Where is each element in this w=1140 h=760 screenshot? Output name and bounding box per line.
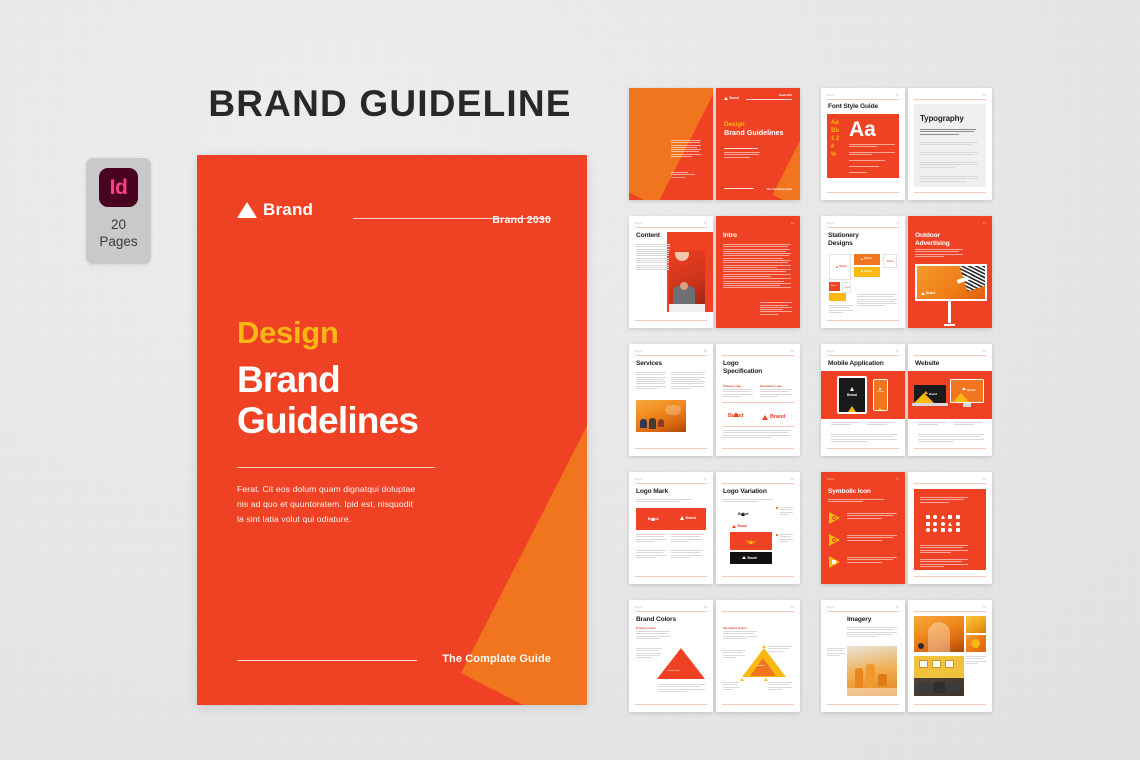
icon-set-grid: [926, 515, 960, 532]
thumb-photo: [966, 616, 986, 633]
star-icon: [941, 515, 945, 519]
thumb-title: Font Style Guide: [828, 103, 878, 111]
thumb-header-right: 14: [983, 222, 986, 225]
thumb-header-left: Brand: [827, 94, 834, 97]
cover-title-block: Design Brand Guidelines Ferat. Cit eos d…: [237, 317, 487, 528]
thumb-sub-right: Secondary Logo: [760, 384, 782, 388]
page-thumbnail-grid: Brand Brand 2030 Design Brand Guidelines…: [629, 88, 1001, 712]
thumb-pair: Brand13 Stationery Designs Brand Brand B…: [821, 216, 992, 328]
thumb-header-right: 19: [896, 606, 899, 609]
cover-kicker: Design: [237, 317, 487, 350]
home-icon: [948, 522, 952, 526]
cover-title-line2: Guidelines: [237, 400, 487, 441]
page-title: BRAND GUIDELINE: [200, 83, 580, 125]
thumb-title: Website: [915, 360, 939, 368]
thumb-header-right: 10: [791, 606, 794, 609]
thumb-title: Intro: [723, 232, 737, 240]
thumb-header-left: Brand: [827, 350, 834, 353]
cover-preview[interactable]: Brand Brand 2030 Design Brand Guidelines…: [197, 155, 587, 705]
page-count-number: 20: [99, 217, 137, 234]
cover-footer: The Complate Guide: [237, 645, 551, 665]
cover-blurb: Ferat. Cit eos dolum quam dignatqui dolu…: [237, 482, 419, 527]
thumb-header-right: 17: [896, 478, 899, 481]
thumb-header-left: Brand: [827, 222, 834, 225]
thumb-photo: [914, 656, 964, 696]
thumb-pair: Brand07 Logo Mark Brand Brand 08: [629, 472, 800, 584]
thumb-pair: Brand19 Imagery 20: [821, 600, 992, 712]
thumb-header-right: 15: [896, 350, 899, 353]
thumb-content[interactable]: Brand03 Content: [629, 216, 713, 328]
thumb-sub: Primary Colors: [636, 626, 656, 630]
thumb-title: Mobile Application: [828, 360, 884, 368]
thumb-mobile-application[interactable]: Brand15 Mobile Application Brand Brand: [821, 344, 905, 456]
thumb-symbolic-icon[interactable]: Brand17 Symbolic Icon: [821, 472, 905, 584]
thumb-title: Services: [636, 360, 662, 368]
bag-icon: [926, 515, 930, 519]
thumb-header-right: 05: [704, 350, 707, 353]
thumb-logo-variation[interactable]: 08 Logo Variation Brand Brand Brand: [716, 472, 800, 584]
thumb-pair: Brand15 Mobile Application Brand Brand: [821, 344, 992, 456]
thumb-stationery-designs[interactable]: Brand13 Stationery Designs Brand Brand B…: [821, 216, 905, 328]
thumb-mark-b: Brand: [770, 414, 786, 420]
thumb-header-right: 13: [896, 222, 899, 225]
thumb-header-right: 16: [983, 350, 986, 353]
thumb-secondary-colors[interactable]: 10 Secondary Colors Secondary: [716, 600, 800, 712]
thumb-header-left: Brand: [827, 606, 834, 609]
thumb-title: Brand Guidelines: [724, 129, 784, 137]
thumb-photo: [636, 400, 686, 432]
thumb-header-left: Brand: [635, 478, 642, 481]
thumb-brand-name: Brand: [730, 96, 739, 100]
cover-brand-name: Brand: [263, 200, 313, 220]
thumb-device-label: Brand: [839, 393, 865, 397]
specimen-big: Aa: [849, 119, 876, 140]
thumb-pair: Brand05 Services 06 Logo Specification P…: [629, 344, 800, 456]
thumb-icon-set[interactable]: 18: [908, 472, 992, 584]
headphones-icon: [926, 528, 930, 532]
thumb-pair: Brand Brand 2030 Design Brand Guidelines…: [629, 88, 800, 200]
thumb-imagery[interactable]: Brand19 Imagery: [821, 600, 905, 712]
thumb-header-right: 04: [791, 222, 794, 225]
thumb-mark-a: Brand: [648, 517, 658, 521]
thumb-title: Brand Colors: [636, 616, 676, 624]
pin-icon: [956, 522, 960, 526]
indesign-pages-badge: Id 20 Pages: [86, 158, 151, 264]
phone-icon: [948, 515, 952, 519]
thumb-title: Typography: [920, 114, 964, 123]
thumb-header-left: Brand: [827, 478, 834, 481]
cover-edition: Brand 2030: [492, 214, 551, 226]
thumb-header-right: 02: [983, 94, 986, 97]
thumb-pair: Brand01 Font Style Guide Aa Bb 1 2 # % A…: [821, 88, 992, 200]
lock-icon: [956, 528, 960, 532]
thumb-imagery-gallery[interactable]: 20: [908, 600, 992, 712]
thumb-photo: [847, 646, 897, 696]
thumb-title: Outdoor Advertising: [915, 232, 965, 248]
thumb-typography[interactable]: 02 Typography: [908, 88, 992, 200]
cover-header-rule: Brand 2030: [353, 218, 551, 219]
thumb-header-right: 09: [704, 606, 707, 609]
cover-footer-cta: The Complate Guide: [442, 653, 551, 665]
thumb-header-right: 01: [896, 94, 899, 97]
specimen-bb: Bb: [831, 127, 839, 135]
thumb-sub-left: Primary Logo: [723, 384, 741, 388]
specimen-aa: Aa: [831, 119, 839, 127]
thumb-website[interactable]: 16 Website Brand Brand: [908, 344, 992, 456]
thumb-title: Logo Variation: [723, 488, 767, 496]
thumb-mark-a: Brand: [728, 413, 744, 419]
thumb-title: Imagery: [847, 616, 871, 624]
thumb-brand-colors[interactable]: Brand09 Brand Colors Primary Colors Prim…: [629, 600, 713, 712]
thumb-header-right: 06: [791, 350, 794, 353]
thumb-mark-3: Brand: [730, 540, 772, 544]
question-icon: [933, 515, 937, 519]
cover-footer-rule: [237, 660, 417, 661]
thumb-pair: Brand17 Symbolic Icon 18: [821, 472, 992, 584]
thumb-font-style-guide[interactable]: Brand01 Font Style Guide Aa Bb 1 2 # % A…: [821, 88, 905, 200]
thumb-cover-back[interactable]: [629, 88, 713, 200]
thumb-header-left: Brand: [635, 222, 642, 225]
triangle-logo-icon: [237, 202, 257, 218]
specimen-pct: %: [831, 151, 839, 159]
thumb-logo-specification[interactable]: 06 Logo Specification Primary Logo Secon…: [716, 344, 800, 456]
thumb-header-right: 07: [704, 478, 707, 481]
page-count-text: 20 Pages: [99, 217, 137, 251]
indesign-icon: Id: [99, 168, 138, 207]
gear-icon: [933, 528, 937, 532]
camera-icon: [956, 515, 960, 519]
thumb-kicker: Design: [724, 121, 745, 128]
specimen-hash: #: [831, 143, 839, 151]
cover-title-rule: [237, 467, 435, 468]
clock-icon: [948, 528, 952, 532]
thumb-mark-b: Brand: [686, 516, 696, 520]
thumb-header-right: 18: [983, 478, 986, 481]
thumb-intro[interactable]: 04 Intro: [716, 216, 800, 328]
thumb-footer-cta: The Complate Guide: [767, 188, 792, 191]
thumb-title: Stationery Designs: [828, 232, 876, 248]
thumb-header-left: Brand: [635, 606, 642, 609]
cover-title-line1: Brand: [237, 359, 487, 400]
thumb-edition: Brand 2030: [779, 94, 792, 97]
thumb-title: Symbolic Icon: [828, 488, 871, 496]
video-icon: [926, 522, 930, 526]
thumb-header-right: 20: [983, 606, 986, 609]
specimen-12: 1 2: [831, 135, 839, 143]
thumb-mark-4: Brand: [748, 556, 757, 560]
thumb-logo-mark[interactable]: Brand07 Logo Mark Brand Brand: [629, 472, 713, 584]
thumb-header-right: 08: [791, 478, 794, 481]
thumb-outdoor-advertising[interactable]: 14 Outdoor Advertising Brand: [908, 216, 992, 328]
thumb-title: Content: [636, 232, 660, 240]
search-icon: [941, 522, 945, 526]
thumb-pair: Brand09 Brand Colors Primary Colors Prim…: [629, 600, 800, 712]
thumb-sub: Secondary Colors: [723, 626, 747, 630]
at-icon: [933, 522, 937, 526]
thumb-cover-front[interactable]: Brand Brand 2030 Design Brand Guidelines…: [716, 88, 800, 200]
thumb-photo: [914, 616, 964, 652]
thumb-header-left: Brand: [635, 350, 642, 353]
thumb-services[interactable]: Brand05 Services: [629, 344, 713, 456]
thumb-title: Logo Specification: [723, 360, 767, 376]
thumb-mark-2: Brand: [738, 524, 747, 528]
cover-header: Brand Brand 2030: [237, 200, 551, 220]
thumb-photo: [966, 635, 986, 652]
thumb-header-right: 03: [704, 222, 707, 225]
info-icon: [941, 528, 945, 532]
thumb-pair: Brand03 Content 04 Intro: [629, 216, 800, 328]
thumb-mark-1: Brand: [738, 512, 748, 516]
cover-brandmark: Brand: [237, 200, 313, 220]
page-count-label: Pages: [99, 234, 137, 251]
thumb-title: Logo Mark: [636, 488, 668, 496]
thumb-photo: [669, 250, 705, 312]
